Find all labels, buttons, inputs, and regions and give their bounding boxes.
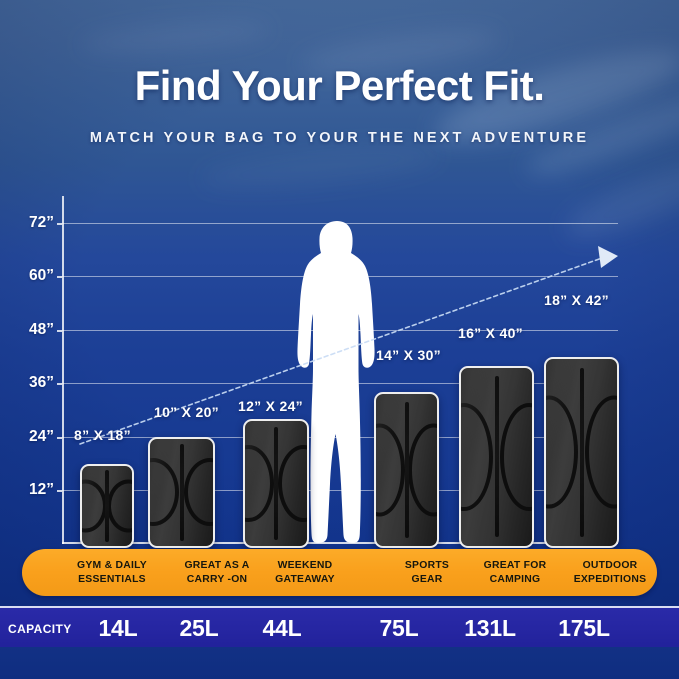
bag-dimension-label: 10” X 20” [154, 404, 219, 420]
use-case-line-1: WEEKEND [278, 559, 333, 572]
footer-fill [0, 647, 679, 679]
bag-bar[interactable] [544, 357, 619, 548]
capacity-strip: CAPACITY 14L25L44L75L131L175L [0, 606, 679, 651]
y-axis-label: 12” [0, 481, 54, 499]
y-axis-tick [57, 276, 62, 278]
y-axis-tick [57, 383, 62, 385]
page-title: Find Your Perfect Fit. [0, 62, 679, 110]
use-case-line-2: GATEAWAY [275, 573, 335, 586]
bag-bar[interactable] [459, 366, 534, 548]
bag-dimension-label: 8” X 18” [74, 427, 131, 443]
bag-dimension-label: 16” X 40” [458, 325, 523, 341]
bag-bar[interactable] [148, 437, 215, 548]
infographic-root: Find Your Perfect Fit. MATCH YOUR BAG TO… [0, 0, 679, 679]
use-case-line-2: EXPEDITIONS [574, 573, 647, 586]
bag-gloss [82, 466, 132, 546]
use-case-line-1: OUTDOOR [583, 559, 638, 572]
y-axis-tick [57, 490, 62, 492]
capacity-value: 44L [238, 608, 326, 649]
capacity-value: 75L [355, 608, 443, 649]
bag-gloss [461, 368, 532, 546]
use-case-line-2: CAMPING [490, 573, 541, 586]
use-case-line-2: GEAR [411, 573, 442, 586]
use-case-cell[interactable]: OUTDOOREXPEDITIONS [550, 549, 670, 596]
bag-dimension-label: 12” X 24” [238, 398, 303, 414]
y-axis-tick [57, 330, 62, 332]
bag-dimension-label: 18” X 42” [544, 292, 609, 308]
page-subtitle: MATCH YOUR BAG TO YOUR THE NEXT ADVENTUR… [0, 130, 679, 146]
use-case-line-1: GREAT FOR [484, 559, 547, 572]
bag-gloss [150, 439, 213, 546]
capacity-value: 175L [535, 608, 633, 649]
y-axis-label: 48” [0, 321, 54, 339]
bag-bar[interactable] [80, 464, 134, 548]
y-axis-label: 24” [0, 428, 54, 446]
y-axis-tick [57, 223, 62, 225]
y-axis-tick [57, 437, 62, 439]
y-axis-label: 60” [0, 267, 54, 285]
y-axis-label: 72” [0, 214, 54, 232]
bag-bar[interactable] [243, 419, 309, 548]
use-case-strip: GYM & DAILYESSENTIALSGREAT AS ACARRY -ON… [22, 549, 657, 596]
capacity-value: 25L [158, 608, 240, 649]
y-axis-label: 36” [0, 374, 54, 392]
y-axis-line [62, 196, 64, 544]
bag-gloss [245, 421, 307, 546]
use-case-cell[interactable]: WEEKENDGATEAWAY [240, 549, 370, 596]
use-case-cell[interactable]: GYM & DAILYESSENTIALS [52, 549, 172, 596]
use-case-line-1: GYM & DAILY [77, 559, 147, 572]
use-case-line-1: SPORTS [405, 559, 449, 572]
use-case-line-2: ESSENTIALS [78, 573, 146, 586]
bag-bar[interactable] [374, 392, 439, 548]
bag-gloss [546, 359, 617, 546]
capacity-value: 14L [78, 608, 158, 649]
bag-dimension-label: 14” X 30” [376, 347, 441, 363]
bag-gloss [376, 394, 437, 546]
capacity-value: 131L [443, 608, 537, 649]
capacity-label: CAPACITY [8, 608, 72, 649]
use-case-line-2: CARRY -ON [187, 573, 248, 586]
